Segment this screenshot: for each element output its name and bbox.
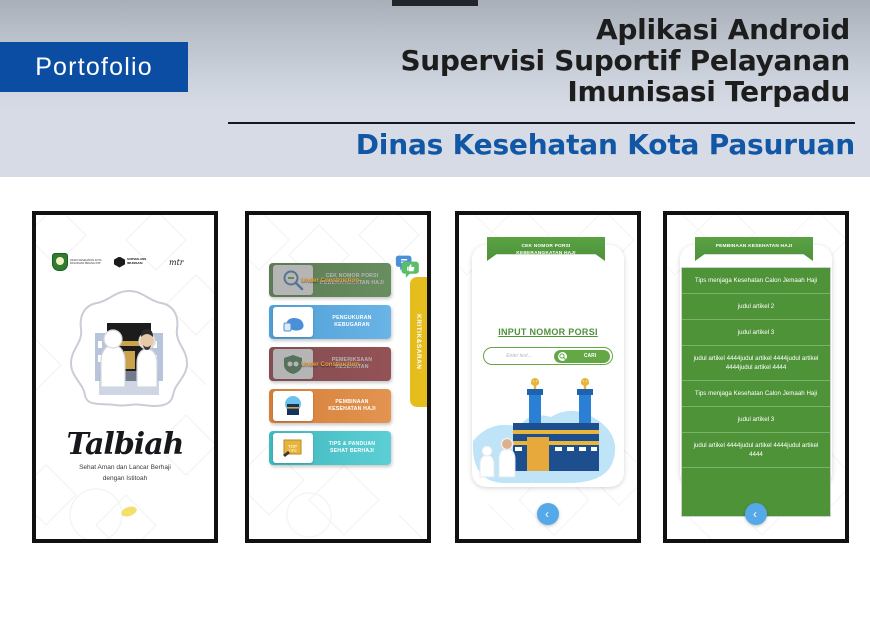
menu-label-line1: PEMBINAAN <box>316 399 388 406</box>
menu-item-pemeriksaan-kesehatan[interactable]: PEMERIKSAAN KESEHATAN Under Construction <box>269 347 391 381</box>
page-title: Aplikasi Android Supervisi Suportif Pela… <box>210 14 850 107</box>
portofolio-chip: Portofolio <box>0 42 188 92</box>
list-item[interactable]: Tips menjaga Kesehatan Calon Jemaah Haji <box>682 268 830 294</box>
logo-dinkes: DINAS KESEHATAN KOTA PASURUAN BIDANG P2P <box>52 253 104 271</box>
ribbon-line1: CEK NOMOR PORSI <box>487 243 605 250</box>
menu-item-label: TIPS & PANDUAN SEHAT BERHAJI <box>313 441 391 455</box>
feedback-chat-icon[interactable] <box>395 253 421 279</box>
brand-name: Talbiah <box>36 429 214 461</box>
title-divider <box>228 122 855 124</box>
hexagon-icon <box>114 257 125 268</box>
ribbon-line1: PEMBINAAN KESEHATAN HAJI <box>695 243 813 250</box>
title-line-1: Aplikasi Android <box>210 14 850 45</box>
menu-screen: CEK NOMOR PORSI KEBERANGKATAN HAJI Under… <box>249 215 427 539</box>
partner-logos: DINAS KESEHATAN KOTA PASURUAN BIDANG P2P… <box>52 251 200 273</box>
slide-header: Portofolio Aplikasi Android Supervisi Su… <box>0 0 870 177</box>
search-icon <box>558 352 567 361</box>
portofolio-chip-label: Portofolio <box>35 53 153 82</box>
menu-item-label: PEMBINAAN KESEHATAN HAJI <box>313 399 391 413</box>
list-item[interactable]: judul artikel 3 <box>682 407 830 433</box>
kaaba-mosque-illustration-icon <box>465 375 631 487</box>
portfolio-slide: Portofolio Aplikasi Android Supervisi Su… <box>0 0 870 619</box>
input-section-title: INPUT NOMOR PORSI <box>459 327 637 337</box>
kaaba-illustration-icon <box>69 289 189 409</box>
logo-dinkes-label: DINAS KESEHATAN KOTA PASURUAN BIDANG P2P <box>70 259 104 266</box>
kritik-saran-label: KRITIK&SARAN <box>414 314 423 369</box>
menu-list: CEK NOMOR PORSI KEBERANGKATAN HAJI Under… <box>269 263 391 473</box>
menu-item-cek-nomor-porsi[interactable]: CEK NOMOR PORSI KEBERANGKATAN HAJI Under… <box>269 263 391 297</box>
kritik-saran-tab[interactable]: KRITIK&SARAN <box>410 277 427 407</box>
menu-label-line1: PENGUKURAN <box>316 315 388 322</box>
title-line-3: Imunisasi Terpadu <box>210 76 850 107</box>
back-button[interactable]: ‹ <box>745 503 767 525</box>
logo-surveilans: SURVEILANS IMUNISASI <box>114 257 159 268</box>
phone-mockup-splash: DINAS KESEHATAN KOTA PASURUAN BIDANG P2P… <box>32 211 218 543</box>
splash-screen: DINAS KESEHATAN KOTA PASURUAN BIDANG P2P… <box>36 215 214 539</box>
brand-tagline-1: Sehat Aman dan Lancar Berhaji <box>36 463 214 472</box>
under-construction-overlay: Under Construction <box>269 347 391 381</box>
cari-button[interactable]: CARI <box>554 350 610 363</box>
menu-label-line2: KEBUGARAN <box>316 322 388 329</box>
top-dark-bar <box>392 0 478 6</box>
phone-mockup-cek-porsi: CEK NOMOR PORSI KEBERANGKATAN HAJI INPUT… <box>455 211 641 543</box>
menu-label-line1: TIPS & PANDUAN <box>316 441 388 448</box>
logo-surveilans-label: SURVEILANS IMUNISASI <box>127 258 159 265</box>
menu-item-pembinaan-kesehatan-haji[interactable]: PEMBINAAN KESEHATAN HAJI <box>269 389 391 423</box>
chevron-left-icon: ‹ <box>753 508 757 520</box>
shield-icon <box>52 253 68 271</box>
list-item[interactable]: judul artikel 4444judul artikel 4444judu… <box>682 433 830 468</box>
menu-item-label: PENGUKURAN KEBUGARAN <box>313 315 391 329</box>
nomor-porsi-input[interactable]: Enter text... <box>484 353 554 359</box>
back-button[interactable]: ‹ <box>537 503 559 525</box>
brand-tagline-2: dengan Istitoah <box>36 474 214 483</box>
logo-signature: mtr <box>169 258 184 267</box>
svg-text:TIPS: TIPS <box>289 449 298 453</box>
list-item[interactable]: judul artikel 4444judul artikel 4444judu… <box>682 346 830 381</box>
page-subtitle: Dinas Kesehatan Kota Pasuruan <box>228 128 855 161</box>
nomor-porsi-search-bar[interactable]: Enter text... CARI <box>483 347 613 365</box>
list-item[interactable]: judul artikel 3 <box>682 320 830 346</box>
article-list[interactable]: Tips menjaga Kesehatan Calon Jemaah Haji… <box>681 267 831 517</box>
chevron-left-icon: ‹ <box>545 508 549 520</box>
menu-item-pengukuran-kebugaran[interactable]: PENGUKURAN KEBUGARAN <box>269 305 391 339</box>
menu-item-tips-panduan[interactable]: TOP TIPS TIPS & PANDUAN SEHAT BERHAJI <box>269 431 391 465</box>
tips-board-icon: TOP TIPS <box>273 433 313 463</box>
yellow-accent-dot <box>120 505 138 519</box>
under-construction-label: Under Construction <box>301 361 359 368</box>
list-item[interactable]: judul artikel 2 <box>682 294 830 320</box>
phone-mockup-menu: CEK NOMOR PORSI KEBERANGKATAN HAJI Under… <box>245 211 431 543</box>
menu-label-line2: KESEHATAN HAJI <box>316 406 388 413</box>
under-construction-label: Under Construction <box>301 277 359 284</box>
brand-block: Talbiah Sehat Aman dan Lancar Berhaji de… <box>36 429 214 483</box>
pembinaan-screen: PEMBINAAN KESEHATAN HAJI Tips menjaga Ke… <box>667 215 845 539</box>
list-item[interactable]: Tips menjaga Kesehatan Calon Jemaah Haji <box>682 381 830 407</box>
muscle-arm-icon <box>273 307 313 337</box>
title-line-2: Supervisi Suportif Pelayanan <box>210 45 850 76</box>
cari-button-label: CARI <box>570 353 610 359</box>
kaaba-icon <box>273 391 313 421</box>
under-construction-overlay: Under Construction <box>269 263 391 297</box>
cek-porsi-screen: CEK NOMOR PORSI KEBERANGKATAN HAJI INPUT… <box>459 215 637 539</box>
phone-mockup-pembinaan: PEMBINAAN KESEHATAN HAJI Tips menjaga Ke… <box>663 211 849 543</box>
menu-label-line2: SEHAT BERHAJI <box>316 448 388 455</box>
